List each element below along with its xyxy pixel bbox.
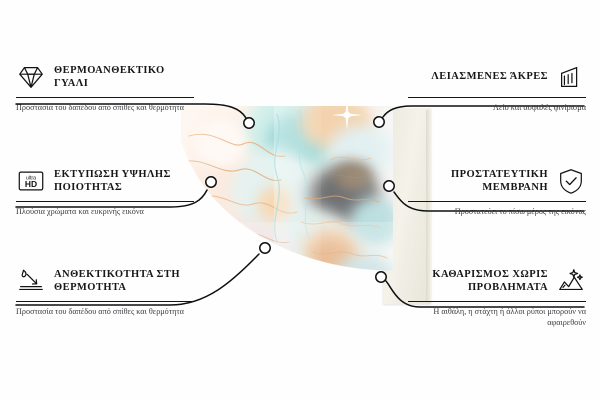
feature-divider [408,97,586,98]
printed-glass-panel [181,106,393,306]
feature-header: ultra HD ΕΚΤΥΠΩΣΗ ΥΨΗΛΗΣ ΠΟΙΟΤΗΤΑΣ [16,166,194,196]
feature-header: ΠΡΟΣΤΑΤΕΥΤΙΚΗ ΜΕΜΒΡΑΝΗ [408,166,586,196]
feature-subtitle: Η αιθάλη, η στάχτη ή άλλοι ρύποι μπορούν… [408,306,586,328]
feature-title: ΘΕΡΜΟΑΝΘΕΚΤΙΚΟ ΓΥΑΛΙ [54,64,194,91]
feature-title: ΚΑΘΑΡΙΣΜΟΣ ΧΩΡΙΣ ΠΡΟΒΛΗΜΑΤΑ [408,268,548,295]
product-illustration [178,92,418,322]
feature-heat-resistant-glass[interactable]: ΘΕΡΜΟΑΝΘΕΚΤΙΚΟ ΓΥΑΛΙ Προστασία του δαπέδ… [16,62,194,113]
heat-resistance-icon [16,266,46,296]
feature-header: ΚΑΘΑΡΙΣΜΟΣ ΧΩΡΙΣ ΠΡΟΒΛΗΜΑΤΑ [408,266,586,296]
feature-divider [16,301,194,302]
feature-title: ΠΡΟΣΤΑΤΕΥΤΙΚΗ ΜΕΜΒΡΑΝΗ [408,168,548,195]
feature-subtitle: Λείο και ασφαλές φινίρισμα [408,102,586,113]
feature-polished-edges[interactable]: ΛΕΙΑΣΜΕΝΕΣ ΆΚΡΕΣ Λείο και ασφαλές φινίρι… [408,62,586,113]
polished-edges-icon [556,62,586,92]
feature-title: ΕΚΤΥΠΩΣΗ ΥΨΗΛΗΣ ΠΟΙΟΤΗΤΑΣ [54,168,194,195]
feature-header: ΑΝΘΕΚΤΙΚΟΤΗΤΑ ΣΤΗ ΘΕΡΜΟΤΗΤΑ [16,266,194,296]
feature-subtitle: Προστασία του δαπέδου από σπίθες και θερ… [16,306,194,317]
svg-text:HD: HD [25,179,37,189]
easy-clean-sparkle-icon [556,266,586,296]
marble-veins [181,106,393,306]
shield-check-icon [556,166,586,196]
feature-subtitle: Προστασία του δαπέδου από σπίθες και θερ… [16,102,194,113]
feature-high-quality-print[interactable]: ultra HD ΕΚΤΥΠΩΣΗ ΥΨΗΛΗΣ ΠΟΙΟΤΗΤΑΣ Πλούσ… [16,166,194,217]
infographic-canvas: ΘΕΡΜΟΑΝΘΕΚΤΙΚΟ ΓΥΑΛΙ Προστασία του δαπέδ… [0,0,600,400]
feature-divider [16,201,194,202]
feature-subtitle: Προστατεύει το πίσω μέρος της εικόνας [408,206,586,217]
ultra-hd-icon: ultra HD [16,166,46,196]
feature-title: ΑΝΘΕΚΤΙΚΟΤΗΤΑ ΣΤΗ ΘΕΡΜΟΤΗΤΑ [54,268,194,295]
feature-divider [408,201,586,202]
feature-easy-cleaning[interactable]: ΚΑΘΑΡΙΣΜΟΣ ΧΩΡΙΣ ΠΡΟΒΛΗΜΑΤΑ Η αιθάλη, η … [408,266,586,328]
feature-title: ΛΕΙΑΣΜΕΝΕΣ ΆΚΡΕΣ [431,70,548,84]
feature-header: ΘΕΡΜΟΑΝΘΕΚΤΙΚΟ ΓΥΑΛΙ [16,62,194,92]
feature-protective-membrane[interactable]: ΠΡΟΣΤΑΤΕΥΤΙΚΗ ΜΕΜΒΡΑΝΗ Προστατεύει το πί… [408,166,586,217]
feature-subtitle: Πλούσια χρώματα και ευκρινής εικόνα [16,206,194,217]
diamond-icon [16,62,46,92]
feature-divider [408,301,586,302]
feature-header: ΛΕΙΑΣΜΕΝΕΣ ΆΚΡΕΣ [408,62,586,92]
feature-divider [16,97,194,98]
feature-heat-durability[interactable]: ΑΝΘΕΚΤΙΚΟΤΗΤΑ ΣΤΗ ΘΕΡΜΟΤΗΤΑ Προστασία το… [16,266,194,317]
